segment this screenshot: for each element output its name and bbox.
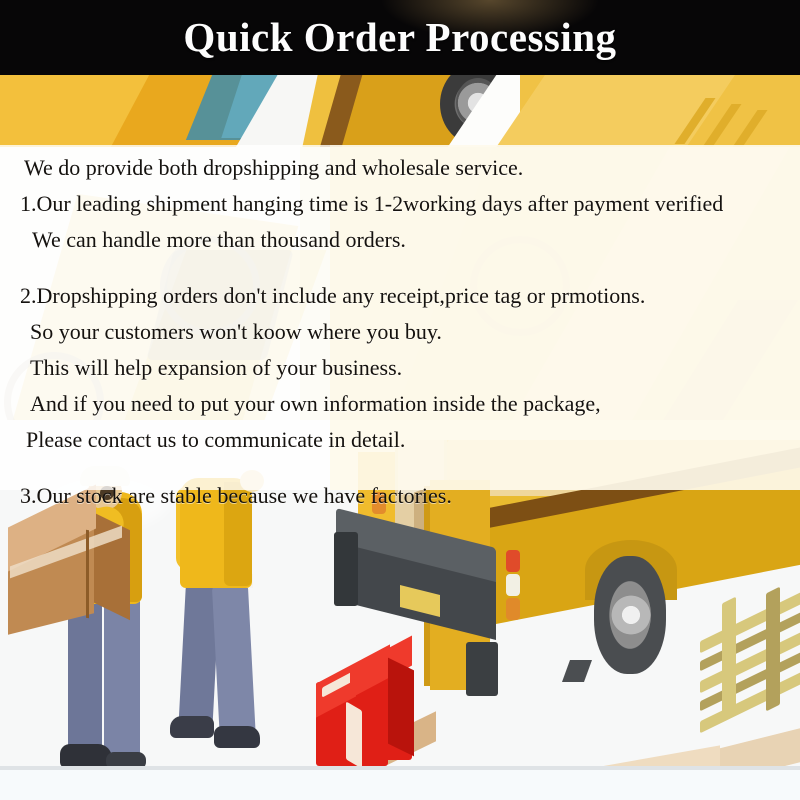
body-line: 1.Our leading shipment hanging time is 1… (0, 186, 800, 222)
worker-b-shoe-right (214, 726, 260, 748)
bottom-strip (0, 770, 800, 800)
crate-divider (346, 701, 362, 768)
worker-b-shoe-left (170, 716, 214, 738)
truck-bumper-right-cap (466, 642, 498, 696)
truck-taillight-red (506, 550, 520, 572)
truck-taillight-amber (506, 598, 520, 620)
body-line: We do provide both dropshipping and whol… (0, 150, 800, 186)
pallet-stringer-1 (722, 597, 736, 722)
promo-banner-page: Quick Order Processing We do provide bot… (0, 0, 800, 800)
worker-a-leg-right (104, 596, 140, 772)
worker-a-shoe-left (60, 744, 112, 768)
body-line: This will help expansion of your busines… (0, 350, 800, 386)
truck-bumper-left-cap (334, 532, 358, 606)
body-line: So your customers won't koow where you b… (0, 314, 800, 350)
page-title: Quick Order Processing (0, 11, 800, 63)
truck-taillight-white (506, 574, 520, 596)
body-line: We can handle more than thousand orders. (0, 222, 800, 258)
header-bar: Quick Order Processing (0, 0, 800, 75)
truck-rear-wheel-rim (611, 584, 651, 646)
body-line: 2.Dropshipping orders don't include any … (0, 278, 800, 314)
body-line: And if you need to put your own informat… (0, 386, 800, 422)
body-copy: We do provide both dropshipping and whol… (0, 150, 800, 514)
paragraph-gap (0, 258, 800, 278)
paragraph-gap (0, 458, 800, 478)
pallet-stringer-2 (766, 587, 780, 712)
crate-side-right (388, 658, 414, 757)
carried-box-seam (86, 530, 89, 619)
body-line: Please contact us to communicate in deta… (0, 422, 800, 458)
body-line: 3.Our stock are stable because we have f… (0, 478, 800, 514)
